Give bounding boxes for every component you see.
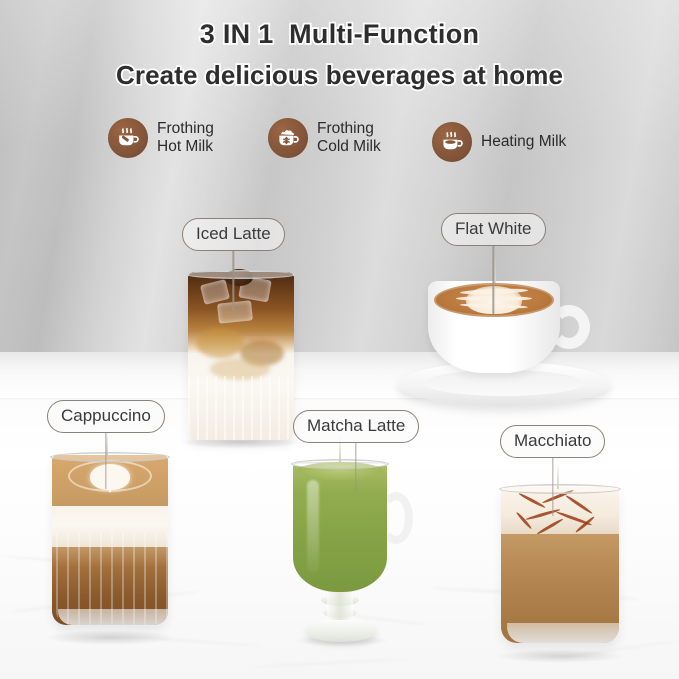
glass-base xyxy=(58,609,168,625)
feature-label: Heating Milk xyxy=(481,133,566,151)
callout-label: Flat White xyxy=(441,213,546,246)
crema-surface xyxy=(434,283,554,317)
coffee-swirl xyxy=(210,358,270,380)
callout-iced-latte: Iced Latte xyxy=(182,218,285,251)
milk-pour-stream xyxy=(557,463,559,489)
saucer-well xyxy=(424,370,584,396)
callout-leader-line xyxy=(105,433,106,489)
drink-iced-latte xyxy=(185,272,297,440)
callout-cappuccino: Cappuccino xyxy=(47,400,165,433)
drink-flat-white xyxy=(398,281,610,406)
feature-heating-milk: Heating Milk xyxy=(432,122,566,162)
glass-base xyxy=(507,623,619,643)
glass-rim xyxy=(50,452,170,462)
feature-frothing-cold-milk: Frothing Cold Milk xyxy=(268,118,381,158)
heading-block: 3 IN 1 Multi-Function Create delicious b… xyxy=(0,18,679,93)
macchiato-glass xyxy=(501,487,619,643)
callout-leader-line xyxy=(355,443,356,491)
page-title: 3 IN 1 Multi-Function xyxy=(0,18,679,52)
drink-macchiato xyxy=(497,487,623,655)
callout-leader-line xyxy=(233,251,234,311)
tumbler-glass xyxy=(188,272,294,440)
glass-rim xyxy=(499,484,621,494)
drink-matcha-latte xyxy=(281,462,415,652)
matcha-glass-bowl xyxy=(293,462,387,592)
glass-stem xyxy=(327,588,353,620)
callout-label: Cappuccino xyxy=(47,400,165,433)
callout-macchiato: Macchiato xyxy=(500,425,605,458)
mug-steam-icon xyxy=(108,118,148,158)
callout-label: Iced Latte xyxy=(182,218,285,251)
ice-cube xyxy=(217,300,253,323)
drink-shadow xyxy=(44,630,176,645)
feature-label: Frothing Cold Milk xyxy=(317,120,381,157)
cappuccino-glass xyxy=(52,455,168,625)
cup-steam-icon xyxy=(432,122,472,162)
milk-pour-stream xyxy=(494,255,496,283)
callout-leader-line xyxy=(552,458,553,516)
glass-foot xyxy=(305,618,377,642)
coffee-swirl xyxy=(196,328,244,358)
drink-cappuccino xyxy=(48,455,172,637)
feature-list: Frothing Hot Milk Frothing Cold Milk xyxy=(0,118,679,180)
page-subtitle: Create delicious beverages at home xyxy=(0,59,679,93)
glass-highlight xyxy=(307,480,319,572)
callout-leader-line xyxy=(493,246,494,314)
mug-snowflake-icon xyxy=(268,118,308,158)
callout-label: Macchiato xyxy=(500,425,605,458)
callout-label: Matcha Latte xyxy=(293,410,419,443)
feature-label: Frothing Hot Milk xyxy=(157,120,214,157)
glass-rim xyxy=(186,270,296,279)
product-feature-image: 3 IN 1 Multi-Function Create delicious b… xyxy=(0,0,679,679)
callout-flat-white: Flat White xyxy=(441,213,546,246)
feature-frothing-hot-milk: Frothing Hot Milk xyxy=(108,118,214,158)
callout-matcha-latte: Matcha Latte xyxy=(293,410,419,443)
latte-art-heart xyxy=(90,464,130,490)
drink-shadow xyxy=(495,649,625,663)
latte-art-leaf xyxy=(456,296,532,301)
